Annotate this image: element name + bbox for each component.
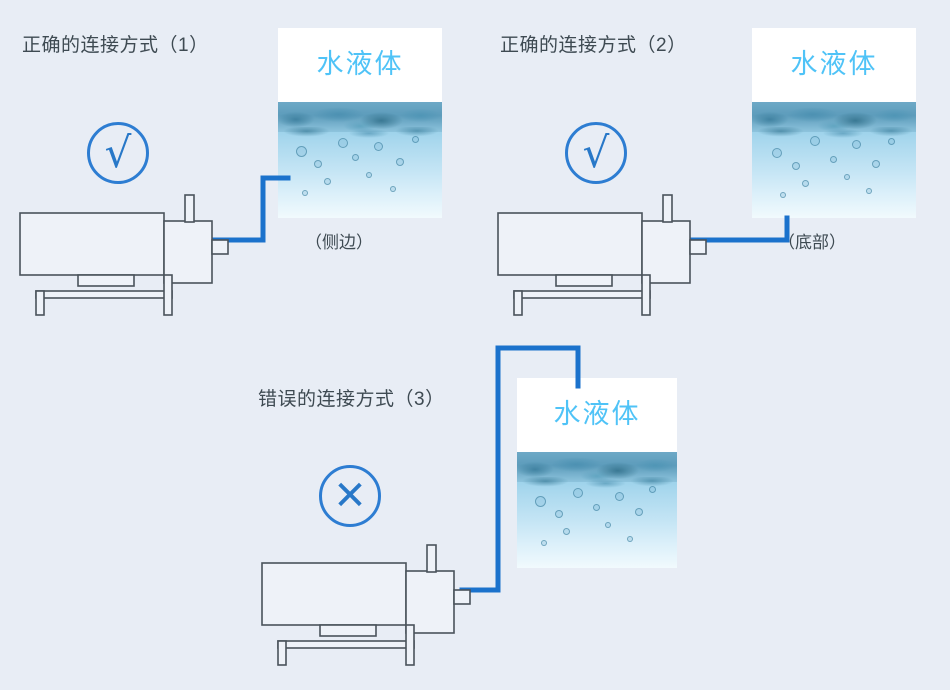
bubble — [374, 142, 383, 151]
bubble — [866, 188, 872, 194]
bubble — [338, 138, 348, 148]
leg-right — [642, 275, 650, 315]
badge-glyph-label: √ — [90, 125, 146, 184]
bubble — [844, 174, 850, 180]
water-surface — [752, 102, 916, 132]
tank-connection-caption: （侧边） — [305, 228, 373, 253]
motor-foot — [78, 275, 134, 286]
bubble — [810, 136, 820, 146]
motor-foot — [320, 625, 376, 636]
cross-mark-icon: ✕ — [319, 465, 381, 527]
bubble — [296, 146, 307, 157]
bubble — [792, 162, 800, 170]
outlet-nozzle — [454, 590, 470, 604]
badge-glyph-label: ✕ — [322, 468, 378, 524]
diagram-canvas: 正确的连接方式（1） √ 水液体 （侧边） — [0, 0, 950, 690]
bubble — [649, 486, 656, 493]
pump-head — [164, 221, 212, 283]
pump-head — [406, 571, 454, 633]
leg-right — [164, 275, 172, 315]
bubble — [396, 158, 404, 166]
pump-machine — [496, 195, 731, 310]
bubble — [366, 172, 372, 178]
water-surface — [278, 102, 442, 132]
bubble — [830, 156, 837, 163]
vent-stub — [663, 195, 672, 222]
leg-right — [406, 625, 414, 665]
bubble — [852, 140, 861, 149]
vent-stub — [185, 195, 194, 222]
panel-title: 正确的连接方式（2） — [500, 30, 687, 57]
base-rail — [278, 641, 414, 648]
motor-body — [262, 563, 406, 625]
bubble — [324, 178, 331, 185]
bubble — [888, 138, 895, 145]
bubble — [772, 148, 782, 158]
pump-head — [642, 221, 690, 283]
bubble — [627, 536, 633, 542]
panel-title: 错误的连接方式（3） — [258, 384, 445, 411]
panel-incorrect-top: 错误的连接方式（3） ✕ 水液体 — [240, 340, 720, 690]
liquid-tank: 水液体 — [278, 28, 442, 218]
panel-title: 正确的连接方式（1） — [22, 30, 209, 57]
liquid-tank-label: 水液体 — [278, 42, 442, 81]
vent-stub — [427, 545, 436, 572]
check-mark-icon: √ — [87, 122, 149, 184]
leg-left — [514, 291, 522, 315]
badge-glyph-label: √ — [568, 125, 624, 184]
bubble — [314, 160, 322, 168]
motor-body — [498, 213, 642, 275]
bubble — [302, 190, 308, 196]
liquid-tank-label: 水液体 — [517, 392, 677, 431]
motor-foot — [556, 275, 612, 286]
pump-machine — [260, 545, 495, 660]
bubble — [390, 186, 396, 192]
bubble — [605, 522, 611, 528]
leg-left — [36, 291, 44, 315]
bubble — [412, 136, 419, 143]
outlet-nozzle — [212, 240, 228, 254]
motor-body — [20, 213, 164, 275]
panel-correct-side: 正确的连接方式（1） √ 水液体 （侧边） — [0, 0, 470, 330]
panel-correct-bottom: 正确的连接方式（2） √ 水液体 （底部） — [478, 0, 950, 330]
check-mark-icon: √ — [565, 122, 627, 184]
bubble — [615, 492, 624, 501]
leg-left — [278, 641, 286, 665]
pump-machine — [18, 195, 253, 310]
outlet-nozzle — [690, 240, 706, 254]
bubble — [352, 154, 359, 161]
base-rail — [36, 291, 172, 298]
bubble — [635, 508, 643, 516]
base-rail — [514, 291, 650, 298]
water-body — [278, 102, 442, 218]
bubble — [872, 160, 880, 168]
liquid-tank-label: 水液体 — [752, 42, 916, 81]
